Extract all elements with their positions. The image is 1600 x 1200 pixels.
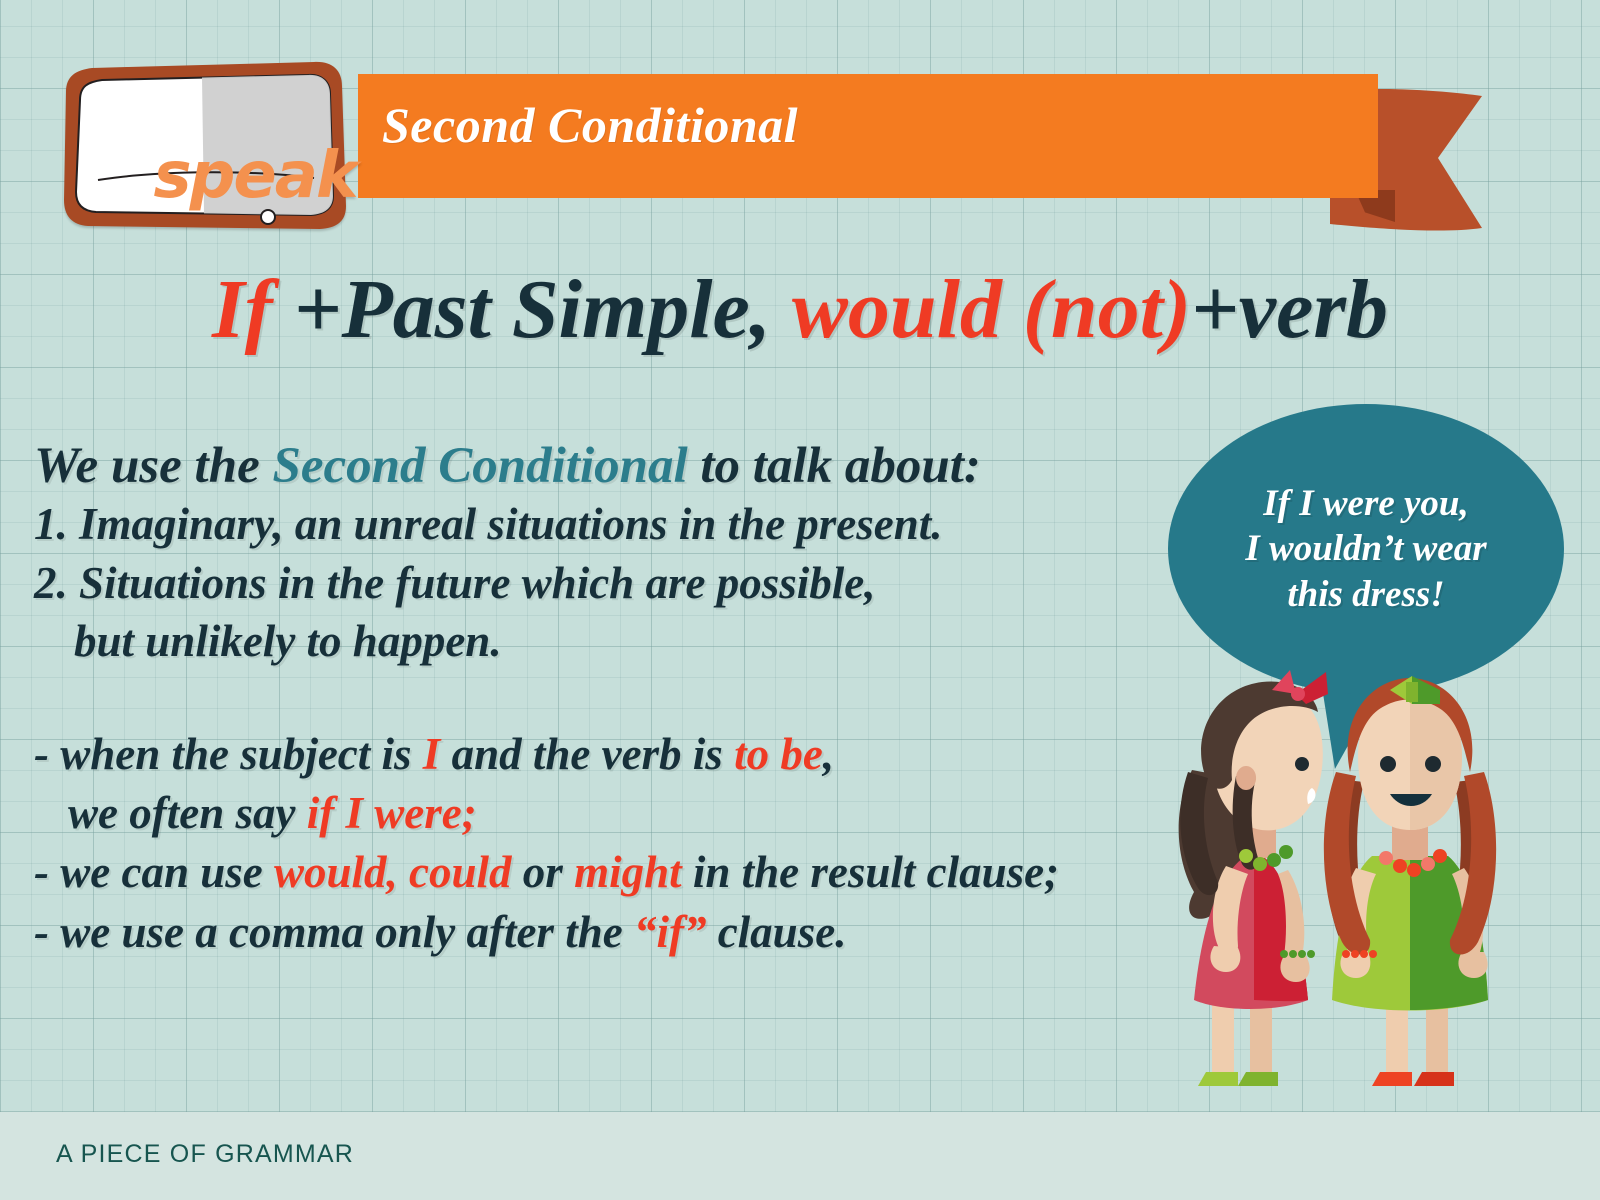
footer-bar: A PIECE OF GRAMMAR	[0, 1112, 1600, 1200]
girl-left	[1179, 670, 1328, 1086]
intro-highlight: Second Conditional	[272, 438, 687, 494]
lesson-point-2: 2. Situations in the future which are po…	[34, 554, 1154, 613]
bullet-1-text-a: - when the subject is	[34, 729, 423, 779]
lesson-bullets: - when the subject is I and the verb is …	[34, 725, 1154, 963]
bullet-1-verb: to be	[734, 729, 823, 779]
bullet-2: - we can use would, could or might in th…	[34, 843, 1154, 902]
speech-bubble: If I were you, I wouldn’t wear this dres…	[1168, 404, 1564, 694]
bullet-2-text-a: - we can use	[34, 847, 274, 897]
intro-text-a: We use the	[34, 438, 272, 494]
bullet-2-might: might	[574, 847, 682, 897]
header: Second Conditional speak	[0, 0, 1600, 240]
lesson-point-2-cont: but unlikely to happen.	[34, 612, 1154, 671]
intro-line: We use the Second Conditional to talk ab…	[34, 438, 1154, 495]
bullet-3-text-b: clause.	[706, 907, 846, 957]
bubble-line-1: If I were you,	[1263, 481, 1469, 526]
bullet-3-if: “if”	[634, 907, 707, 957]
bullet-1-cont-text: we often say	[68, 788, 307, 838]
bullet-1-subject: I	[423, 729, 441, 779]
footer-credit: A PIECE OF GRAMMAR	[56, 1140, 354, 1169]
bullet-3: - we use a comma only after the “if” cla…	[34, 903, 1154, 962]
bullet-2-or: or	[512, 847, 575, 897]
bullet-3-text-a: - we use a comma only after the	[34, 907, 634, 957]
formula-if: If	[212, 263, 273, 356]
bullet-2-modals: would, could	[274, 847, 512, 897]
bullet-1-text-b: and the verb is	[440, 729, 734, 779]
bubble-line-3: this dress!	[1287, 572, 1444, 617]
girl-right	[1324, 676, 1496, 1086]
banner-title: Second Conditional	[382, 96, 798, 154]
bullet-1: - when the subject is I and the verb is …	[34, 725, 1154, 784]
formula-verb: +verb	[1191, 263, 1388, 356]
formula-would-not: would (not)	[792, 263, 1191, 356]
speech-bubble-text: If I were you, I wouldn’t wear this dres…	[1168, 404, 1564, 694]
formula-past-simple: +Past Simple,	[294, 263, 771, 356]
bullet-1-cont: we often say if I were;	[34, 784, 1154, 843]
speak-logo-badge[interactable]: speak	[52, 58, 352, 233]
bullet-2-text-b: in the result clause;	[682, 847, 1060, 897]
bubble-line-2: I wouldn’t wear	[1245, 526, 1486, 571]
bullet-1-comma: ,	[823, 729, 834, 779]
lesson-body: We use the Second Conditional to talk ab…	[34, 438, 1154, 962]
bullet-1-phrase: if I were;	[307, 788, 477, 838]
lesson-point-1: 1. Imaginary, an unreal situations in th…	[34, 495, 1154, 554]
intro-text-b: to talk about:	[688, 438, 981, 494]
formula-line: If +Past Simple, would (not)+verb	[0, 268, 1600, 352]
characters-illustration	[1150, 660, 1570, 1120]
